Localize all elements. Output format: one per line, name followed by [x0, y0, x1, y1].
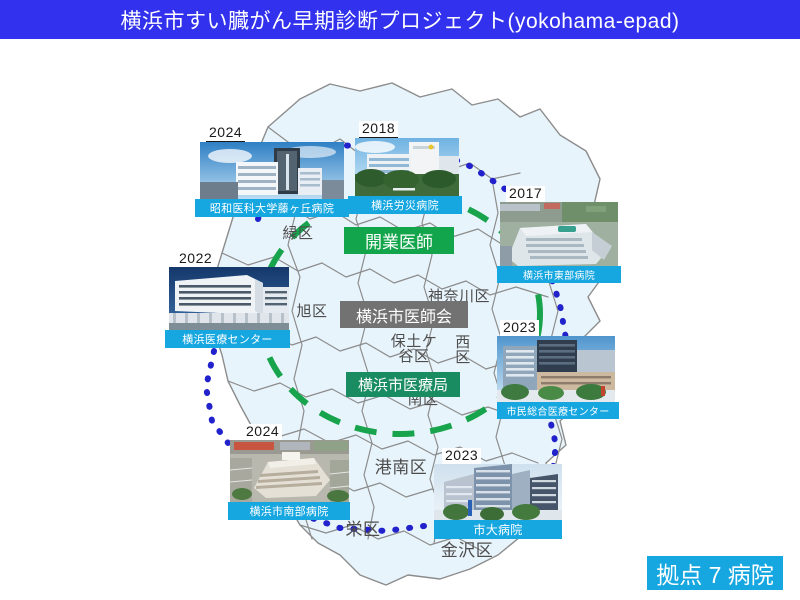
role-box-ishikai: 横浜市医師会: [340, 301, 468, 328]
hospital-photo-yokohama-iryo-center: [169, 267, 289, 330]
hospital-photo-showa-fujigaoka: [200, 142, 344, 199]
hospital-caption-yokohama-nanbu: 横浜市南部病院: [228, 502, 350, 520]
ward-label-hodogaya: 保土ケ 谷区: [386, 334, 442, 365]
hospital-caption-yokohama-rosai: 横浜労災病院: [348, 196, 462, 214]
ward-label-konan: 港南区: [368, 459, 434, 476]
hospital-photo-yokohama-tobu: [500, 202, 618, 266]
ward-label-kanazawa: 金沢区: [434, 542, 500, 559]
hospital-year-label: 2022: [176, 251, 215, 268]
map-stage: 緑区 港北区 神奈川区 旭区 保土ケ 谷区 西区 南区 港南区 栄区 金沢区 開…: [0, 39, 800, 600]
hospital-year-label: 2023: [500, 320, 539, 337]
ward-label-sakae: 栄区: [340, 521, 386, 538]
hospital-year-label: 2018: [359, 121, 398, 138]
hospital-year-label: 2017: [506, 186, 545, 203]
hospital-caption-shimin-sogo: 市民総合医療センター: [497, 402, 619, 419]
hospital-caption-yokohama-iryo-center: 横浜医療センター: [165, 330, 290, 348]
hospital-photo-shimin-sogo: [497, 336, 615, 402]
hospital-year-label: 2023: [442, 448, 481, 465]
ward-label-nishi: 西区: [452, 335, 474, 366]
hospital-year-label: 2024: [206, 125, 245, 142]
page-title: 横浜市すい臓がん早期診断プロジェクト(yokohama-epad): [120, 5, 679, 35]
hospital-caption-yokohama-tobu: 横浜市東部病院: [497, 266, 621, 283]
ward-label-asahi: 旭区: [289, 304, 335, 319]
ward-label-midori: 緑区: [275, 226, 321, 241]
role-box-iryokyoku: 横浜市医療局: [346, 372, 460, 397]
title-bar: 横浜市すい臓がん早期診断プロジェクト(yokohama-epad): [0, 0, 800, 39]
hospital-photo-yokohama-rosai: [355, 138, 459, 196]
role-box-kaigyo-ishi: 開業医師: [344, 227, 454, 254]
hospital-caption-showa-fujigaoka: 昭和医科大学藤ヶ丘病院: [195, 199, 349, 217]
hospital-year-label: 2024: [243, 424, 282, 441]
hospital-photo-yokohama-nanbu: [230, 440, 349, 502]
hospital-photo-shidai: [434, 464, 562, 520]
hospital-caption-shidai: 市大病院: [434, 520, 562, 539]
footer-badge-kyoten-7: 拠点 7 病院: [647, 556, 783, 590]
